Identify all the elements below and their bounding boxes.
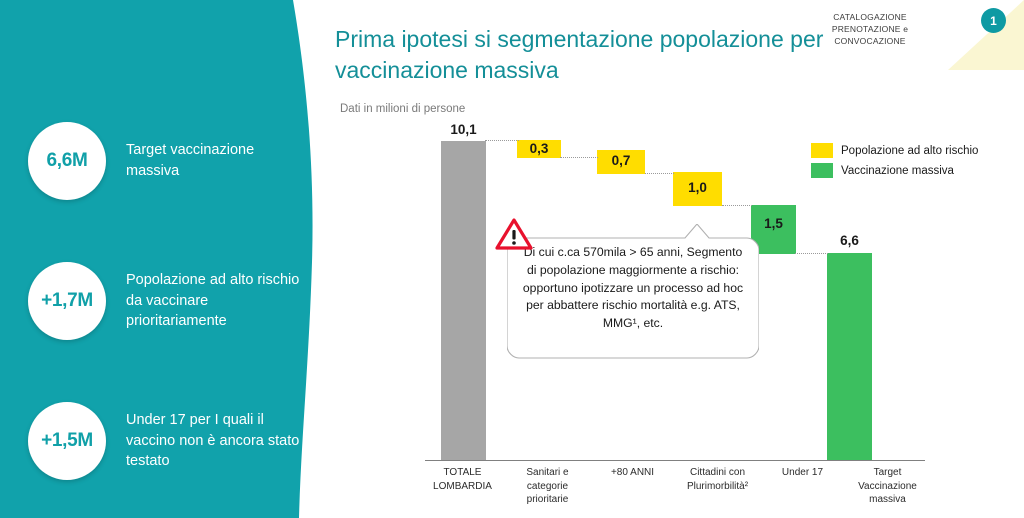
connector-line-5: [795, 253, 828, 254]
x-label-plurimorbilita: Cittadini con Plurimorbilità²: [675, 466, 760, 518]
kpi-item-target-massiva: 6,6M Target vaccinazione massiva: [28, 122, 301, 200]
x-label-under-17: Under 17: [760, 466, 845, 518]
bar-value-label-totale: 10,1: [441, 122, 486, 137]
kpi-value: +1,7M: [41, 290, 93, 312]
x-label-totale-lombardia: TOTALE LOMBARDIA: [420, 466, 505, 518]
warning-triangle-glyph: [495, 217, 533, 251]
legend-swatch-green-icon: [811, 163, 833, 178]
bar-value-label-target: 6,6: [827, 233, 872, 248]
connector-line-1: [485, 140, 519, 141]
kpi-circle: +1,5M: [28, 402, 106, 480]
kpi-item-alto-rischio: +1,7M Popolazione ad alto rischio da vac…: [28, 262, 301, 340]
chart-legend: Popolazione ad alto rischio Vaccinazione…: [811, 143, 978, 183]
legend-swatch-yellow-icon: [811, 143, 833, 158]
kpi-value: +1,5M: [41, 430, 93, 452]
warning-triangle-icon: [495, 217, 533, 251]
kpi-circle: +1,7M: [28, 262, 106, 340]
kpi-description: Target vaccinazione massiva: [126, 140, 301, 181]
kpi-value: 6,6M: [46, 150, 87, 172]
kpi-circle: 6,6M: [28, 122, 106, 200]
bar-value-label-plurimorbilita: 1,0: [673, 180, 722, 195]
callout-text: Di cui c.ca 570mila > 65 anni, Segmento …: [521, 244, 745, 333]
bar-totale-lombardia[interactable]: [441, 141, 486, 460]
callout-box[interactable]: Di cui c.ca 570mila > 65 anni, Segmento …: [507, 224, 759, 364]
x-axis-line: [425, 460, 925, 461]
kpi-description: Popolazione ad alto rischio da vaccinare…: [126, 270, 301, 332]
phase-label: CATALOGAZIONE PRENOTAZIONE e CONVOCAZION…: [822, 11, 918, 47]
connector-line-3: [645, 173, 674, 174]
legend-item-alto-rischio[interactable]: Popolazione ad alto rischio: [811, 143, 978, 158]
connector-line-4: [722, 205, 752, 206]
bar-target-vaccinazione-massiva[interactable]: [827, 253, 872, 460]
x-axis-labels: TOTALE LOMBARDIA Sanitari e categorie pr…: [420, 466, 930, 518]
x-label-sanitari: Sanitari e categorie prioritarie: [505, 466, 590, 518]
legend-label: Vaccinazione massiva: [841, 165, 954, 177]
x-label-target-massiva: Target Vaccinazione massiva: [845, 466, 930, 518]
chart-unit-note: Dati in milioni di persone: [340, 103, 465, 115]
page-title: Prima ipotesi si segmentazione popolazio…: [335, 24, 835, 85]
connector-line-2: [560, 157, 598, 158]
kpi-description: Under 17 per I quali il vaccino non è an…: [126, 410, 301, 472]
kpi-item-under-17: +1,5M Under 17 per I quali il vaccino no…: [28, 402, 301, 480]
bar-value-label-over80: 0,7: [597, 153, 645, 168]
slide-root: 6,6M Target vaccinazione massiva +1,7M P…: [0, 0, 1024, 518]
legend-label: Popolazione ad alto rischio: [841, 145, 978, 157]
legend-item-vaccinazione-massiva[interactable]: Vaccinazione massiva: [811, 163, 978, 178]
x-label-over-80-anni: +80 ANNI: [590, 466, 675, 518]
phase-number-badge: 1: [981, 8, 1006, 33]
bar-value-label-sanitari: 0,3: [517, 141, 561, 156]
